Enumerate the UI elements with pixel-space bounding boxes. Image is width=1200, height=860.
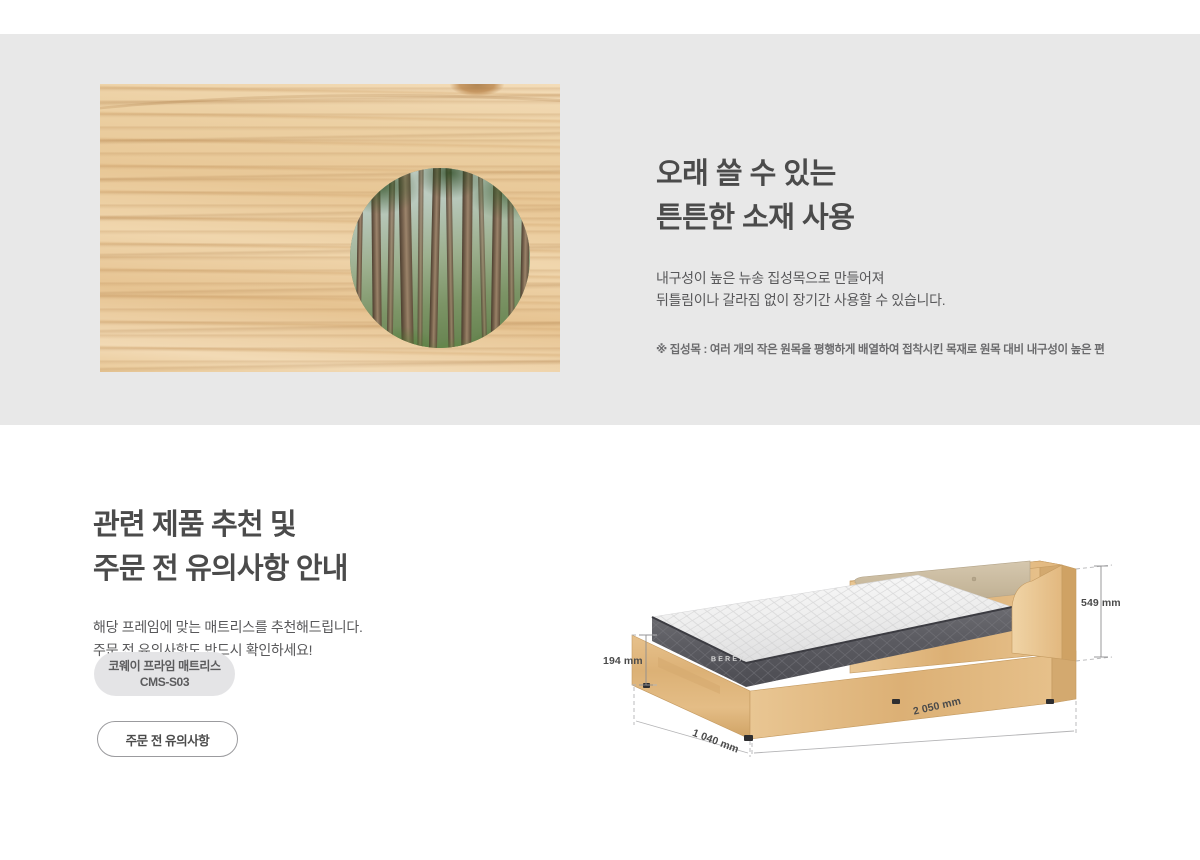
section-related-products: 관련 제품 추천 및 주문 전 유의사항 안내 해당 프레임에 맞는 매트리스를… [0,425,1200,860]
bed-dimension-diagram: BEREX 549 mm 194 mm 1 040 mm 2 050 mm [600,535,1160,765]
forest-canopy [350,168,530,258]
material-subcopy: 내구성이 높은 뉴송 집성목으로 만들어져 뒤틀림이나 갈라짐 없이 장기간 사… [656,267,1126,311]
forest-undergrowth [350,280,530,348]
product-detail-page: 오래 쓸 수 있는 튼튼한 소재 사용 내구성이 높은 뉴송 집성목으로 만들어… [0,0,1200,860]
dimension-label-height-headboard: 549 mm [1081,597,1121,609]
forest-photo-inset [350,168,530,348]
related-copy-block: 관련 제품 추천 및 주문 전 유의사항 안내 해당 프레임에 맞는 매트리스를… [93,503,523,662]
related-headline: 관련 제품 추천 및 주문 전 유의사항 안내 [93,503,523,591]
material-copy-block: 오래 쓸 수 있는 튼튼한 소재 사용 내구성이 높은 뉴송 집성목으로 만들어… [656,152,1126,359]
mattress-recommend-button[interactable]: 코웨이 프라임 매트리스 CMS-S03 [94,652,235,696]
bed-illustration [600,535,1160,765]
wood-board-image [100,84,560,372]
section-material: 오래 쓸 수 있는 튼튼한 소재 사용 내구성이 높은 뉴송 집성목으로 만들어… [0,34,1200,425]
material-footnote: ※ 집성목 : 여러 개의 작은 원목을 평행하게 배열하여 접착시킨 목재로 … [656,341,1126,359]
material-headline: 오래 쓸 수 있는 튼튼한 소재 사용 [656,152,1126,240]
order-notice-button[interactable]: 주문 전 유의사항 [97,721,238,757]
dimension-label-height-frame: 194 mm [603,655,643,667]
mattress-brand-mark: BEREX [711,656,746,664]
